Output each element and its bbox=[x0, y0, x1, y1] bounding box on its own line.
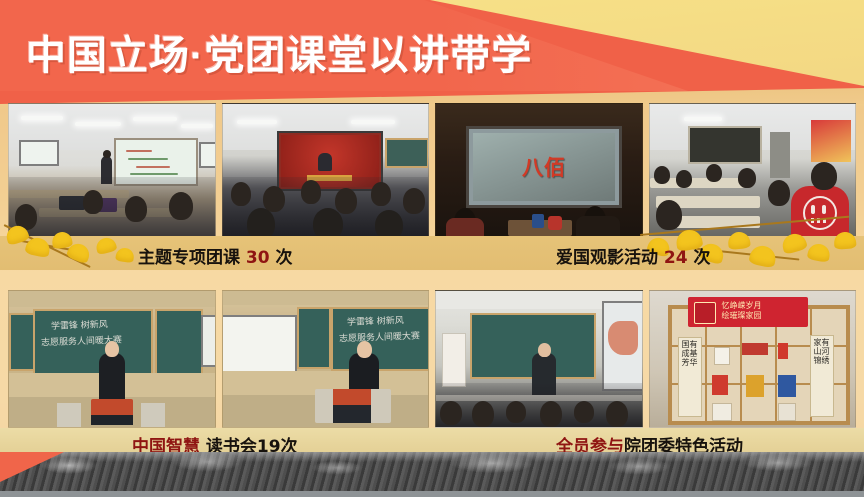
calligraphy-scroll-right: 家有山河锦绣 bbox=[810, 335, 834, 417]
caption-2-suffix: 次 bbox=[688, 248, 711, 268]
presenter-head bbox=[103, 150, 111, 158]
photo-classroom-presentation[interactable] bbox=[8, 103, 216, 241]
student-head bbox=[540, 401, 562, 427]
student-head bbox=[811, 162, 837, 190]
speaker-box bbox=[57, 403, 81, 427]
wall-top bbox=[9, 291, 215, 307]
audience-head bbox=[335, 188, 357, 214]
slide-root: 中国立场·党团课堂以讲带学 bbox=[0, 0, 864, 497]
side-whiteboard bbox=[19, 140, 59, 166]
shelf-item bbox=[714, 347, 730, 365]
caption-2-number: 24 bbox=[664, 248, 688, 268]
student-head bbox=[169, 192, 193, 220]
ceiling-lamp bbox=[351, 120, 395, 124]
speaker-body bbox=[99, 353, 125, 403]
photo-student-podium[interactable]: 学雷锋 树新风 志愿服务人间暖大赛 bbox=[8, 290, 216, 428]
rock-base-line bbox=[0, 491, 864, 497]
rock-highlight bbox=[0, 452, 864, 462]
caption-1-prefix: 主题专项团课 bbox=[138, 248, 246, 268]
projection-screen: 八佰 bbox=[466, 126, 622, 208]
banner-line-2: 绘璀璨家园 bbox=[722, 311, 762, 320]
podium-front bbox=[91, 415, 133, 425]
photo-row-2: 学雷锋 树新风 志愿服务人间暖大赛 学雷锋 树新风 志愿服务人间暖大赛 bbox=[8, 290, 856, 428]
wall-top bbox=[223, 291, 429, 305]
shelf-item bbox=[712, 375, 728, 395]
page-title: 中国立场·党团课堂以讲带学 bbox=[26, 23, 532, 81]
chalkboard-side bbox=[9, 313, 35, 371]
wall-chart bbox=[442, 333, 466, 387]
speaker-head bbox=[357, 341, 372, 358]
ceiling-lamp bbox=[237, 120, 277, 124]
student-head bbox=[738, 168, 756, 188]
podium-front bbox=[333, 405, 371, 423]
caption-2-prefix: 爱国观影活动 bbox=[556, 248, 664, 268]
audience-head bbox=[301, 180, 321, 204]
photo-seminar-discussion[interactable] bbox=[649, 103, 857, 241]
chalkboard-side bbox=[297, 307, 331, 369]
shelf-item bbox=[778, 343, 788, 359]
student-head bbox=[125, 196, 147, 222]
student-head bbox=[768, 180, 790, 206]
chalkboard bbox=[688, 126, 762, 164]
chalkboard-text-line1: 学雷锋 树新风 bbox=[51, 320, 108, 333]
student-head bbox=[574, 401, 594, 423]
student-head bbox=[472, 401, 494, 427]
photo-movie-screening[interactable]: 八佰 bbox=[435, 103, 643, 241]
calligraphy-scroll-left: 国有成基芳华 bbox=[678, 337, 702, 417]
student-head bbox=[506, 401, 526, 423]
photo-display-shelf[interactable]: 忆峥嵘岁月 绘璀璨家园 国有成基芳华 家有山河锦绣 bbox=[649, 290, 857, 428]
projection-screen bbox=[222, 315, 297, 375]
ceiling-lamp bbox=[684, 117, 722, 121]
rock-texture-footer bbox=[0, 452, 864, 497]
student-head bbox=[606, 401, 628, 427]
student-head bbox=[15, 204, 37, 230]
door bbox=[770, 132, 790, 178]
photo-row-1: 八佰 bbox=[8, 103, 856, 241]
object-on-table bbox=[548, 216, 562, 230]
shelf-item bbox=[778, 403, 796, 421]
student-head bbox=[83, 190, 103, 214]
ceiling-lamp bbox=[181, 124, 213, 128]
caption-1-suffix: 次 bbox=[270, 248, 293, 268]
audience-head bbox=[231, 182, 251, 206]
shelf-item bbox=[712, 403, 732, 421]
photo-speaker-podium[interactable]: 学雷锋 树新风 志愿服务人间暖大赛 bbox=[222, 290, 430, 428]
audience-head bbox=[371, 182, 391, 206]
chalkboard bbox=[385, 138, 429, 168]
caption-1-number: 30 bbox=[246, 248, 270, 268]
caption-1: 主题专项团课 30 次 bbox=[138, 243, 293, 268]
photo-lecturer-class[interactable] bbox=[435, 290, 643, 428]
movie-title-text: 八佰 bbox=[522, 152, 566, 182]
audience-head bbox=[403, 188, 425, 214]
speaker-box bbox=[141, 403, 165, 427]
student-head bbox=[656, 200, 682, 230]
chalkboard-text-line1: 学雷锋 树新风 bbox=[346, 316, 403, 329]
banner-emblem-icon bbox=[694, 302, 716, 324]
shelf-item bbox=[746, 375, 764, 397]
object-on-table bbox=[532, 214, 544, 228]
student-head bbox=[654, 166, 670, 184]
ceiling-lamp bbox=[133, 117, 177, 121]
projection-screen bbox=[201, 315, 216, 367]
smiley-face-icon bbox=[803, 196, 837, 230]
ceiling-lamp bbox=[75, 122, 121, 126]
speaker-head bbox=[105, 341, 119, 357]
header-banner: 中国立场·党团课堂以讲带学 bbox=[0, 0, 864, 104]
shelf-item bbox=[742, 343, 768, 355]
photo-lecture-hall-broadcast[interactable] bbox=[222, 103, 430, 241]
chalkboard-side bbox=[155, 309, 203, 375]
banner-line-1: 忆峥嵘岁月 bbox=[722, 301, 762, 310]
shelf-item bbox=[778, 375, 796, 397]
shelf-red-banner: 忆峥嵘岁月 绘璀璨家园 bbox=[688, 297, 808, 327]
ceiling-lamp bbox=[21, 116, 63, 120]
caption-2: 爱国观影活动 24 次 bbox=[556, 243, 711, 268]
student-head bbox=[676, 170, 692, 188]
caption-band-1: 主题专项团课 30 次 爱国观影活动 24 次 bbox=[0, 236, 864, 270]
right-whiteboard bbox=[199, 142, 216, 168]
student-head bbox=[706, 164, 722, 182]
projected-map bbox=[608, 321, 638, 355]
wall-poster bbox=[811, 120, 851, 162]
lecturer-head bbox=[538, 343, 551, 357]
student-head bbox=[440, 401, 462, 425]
